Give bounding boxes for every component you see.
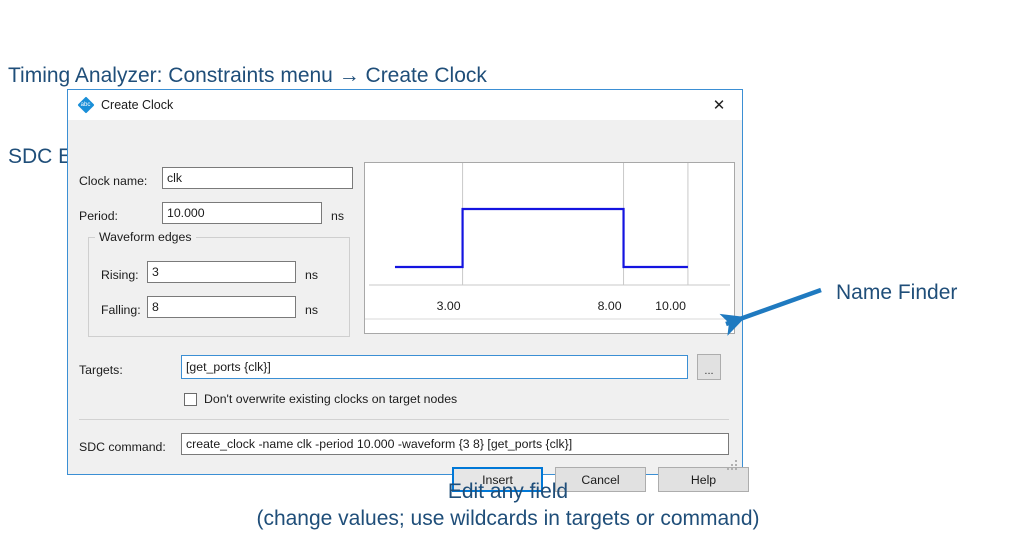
- falling-unit: ns: [305, 303, 318, 317]
- annotation-change-values: (change values; use wildcards in targets…: [0, 505, 1016, 532]
- waveform-edges-title: Waveform edges: [95, 230, 196, 244]
- period-input[interactable]: 10.000: [162, 202, 322, 224]
- targets-label: Targets:: [79, 363, 123, 377]
- targets-input[interactable]: [get_ports {clk}]: [181, 355, 688, 379]
- name-finder-arrow: [718, 282, 828, 342]
- clock-name-input[interactable]: clk: [162, 167, 353, 189]
- annotation-edit-any-field: Edit any field: [0, 478, 1016, 505]
- svg-text:3.00: 3.00: [437, 299, 461, 313]
- period-label: Period:: [79, 209, 118, 223]
- close-icon[interactable]: ✕: [696, 90, 742, 120]
- abc-diamond-icon: abc: [77, 97, 94, 114]
- falling-value: 8: [152, 300, 159, 314]
- annotation-line-timing-analyzer: Timing Analyzer: Constraints menu → Crea…: [8, 62, 1008, 89]
- dont-overwrite-label: Don't overwrite existing clocks on targe…: [204, 392, 457, 406]
- dont-overwrite-checkbox-row[interactable]: Don't overwrite existing clocks on targe…: [184, 392, 457, 406]
- name-finder-browse-button[interactable]: ...: [697, 354, 721, 380]
- rising-label: Rising:: [101, 268, 139, 282]
- dont-overwrite-checkbox[interactable]: [184, 393, 197, 406]
- waveform-edges-group: [88, 237, 350, 337]
- divider: [79, 419, 729, 420]
- sdc-command-label: SDC command:: [79, 440, 166, 454]
- dialog-body: Clock name: clk Period: 10.000 ns Wavefo…: [68, 120, 742, 474]
- dialog-titlebar[interactable]: abc Create Clock ✕: [68, 90, 742, 120]
- rising-value: 3: [152, 265, 159, 279]
- create-clock-dialog: abc Create Clock ✕ Clock name: clk Perio…: [67, 89, 743, 475]
- period-unit: ns: [331, 209, 344, 223]
- waveform-preview-chart: 3.008.0010.00: [364, 162, 735, 334]
- sdc-command-input[interactable]: create_clock -name clk -period 10.000 -w…: [181, 433, 729, 455]
- falling-label: Falling:: [101, 303, 141, 317]
- rising-unit: ns: [305, 268, 318, 282]
- waveform-svg: 3.008.0010.00: [365, 163, 734, 333]
- svg-text:10.00: 10.00: [655, 299, 686, 313]
- bottom-annotation: Edit any field (change values; use wildc…: [0, 478, 1016, 532]
- clock-name-label: Clock name:: [79, 174, 147, 188]
- period-value: 10.000: [167, 206, 205, 220]
- resize-grip[interactable]: [727, 460, 738, 471]
- svg-text:8.00: 8.00: [598, 299, 622, 313]
- dialog-title: Create Clock: [101, 98, 173, 112]
- targets-value: [get_ports {clk}]: [186, 360, 271, 374]
- falling-input[interactable]: 8: [147, 296, 296, 318]
- name-finder-annotation: Name Finder: [836, 280, 957, 306]
- clock-name-value: clk: [167, 171, 182, 185]
- sdc-command-value: create_clock -name clk -period 10.000 -w…: [186, 437, 572, 451]
- rising-input[interactable]: 3: [147, 261, 296, 283]
